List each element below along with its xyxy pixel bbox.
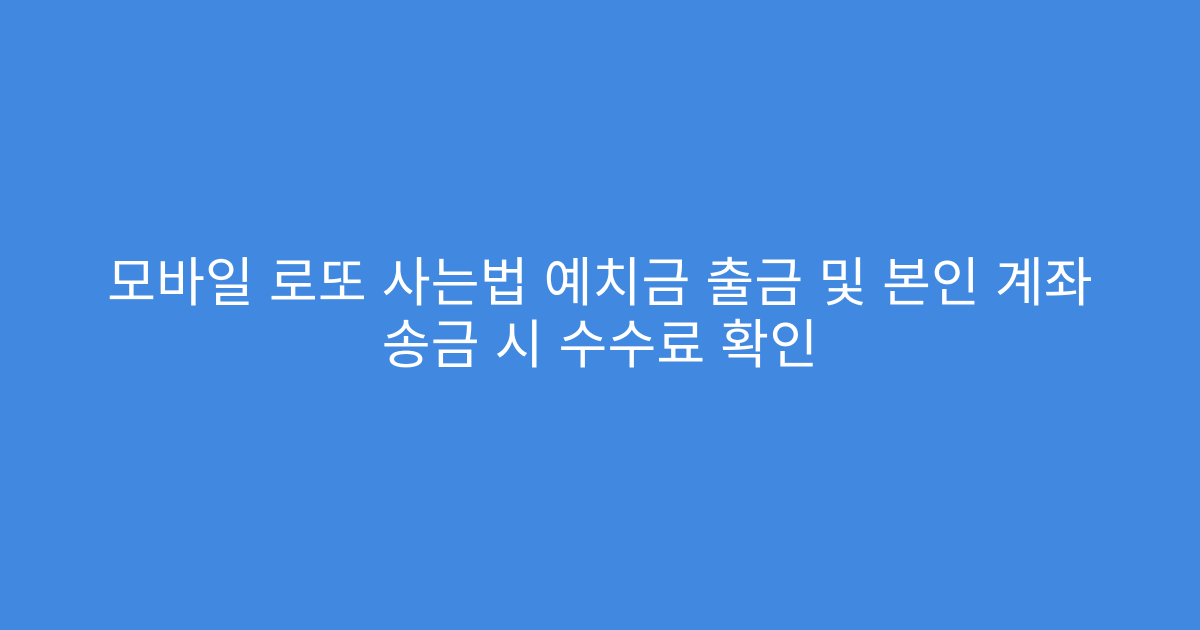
page-title: 모바일 로또 사는법 예치금 출금 및 본인 계좌 송금 시 수수료 확인 xyxy=(60,253,1140,377)
title-block: 모바일 로또 사는법 예치금 출금 및 본인 계좌 송금 시 수수료 확인 xyxy=(60,253,1140,377)
social-share-card: 모바일 로또 사는법 예치금 출금 및 본인 계좌 송금 시 수수료 확인 xyxy=(0,0,1200,630)
